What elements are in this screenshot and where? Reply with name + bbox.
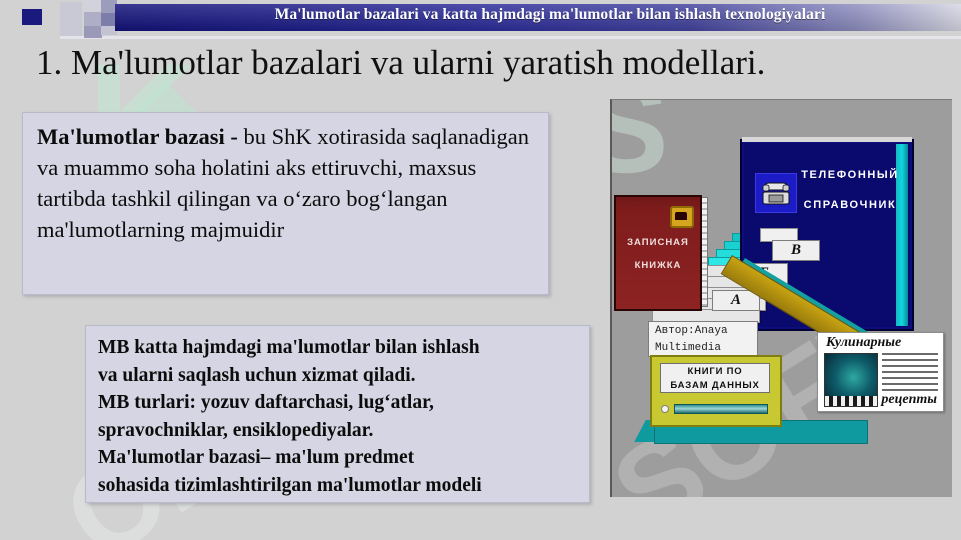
index-tab-v: В [772, 240, 820, 261]
recipe-card-line1: Кулинарные [826, 335, 901, 351]
author-card-line1: Автор:Anaya [655, 323, 757, 340]
recipe-card-text-lines [882, 353, 938, 393]
drawer-handle [674, 404, 768, 414]
drawer-knob-icon [661, 405, 669, 413]
slide-header: Ma'lumotlar bazalari va katta hajmdagi m… [0, 0, 961, 33]
page-title: 1. Ma'lumotlar bazalari va ularni yarati… [36, 43, 926, 83]
details-line-2: va ularni saqlash uchun xizmat qiladi. [98, 362, 581, 390]
notebook-emblem-inner [675, 212, 687, 220]
phone-directory-title-line2: СПРАВОЧНИК [790, 199, 910, 211]
recipe-card-photo-checks [825, 396, 877, 406]
recipe-card-photo [824, 353, 878, 407]
header-square-accent [22, 9, 42, 25]
header-square-light-1 [60, 2, 82, 36]
details-line-6: sohasida tizimlashtirilgan ma'lumotlar m… [98, 472, 581, 500]
notebook-book: ЗАПИСНАЯ КНИЖКА [614, 195, 702, 311]
header-square-light-3 [84, 12, 102, 26]
header-title: Ma'lumotlar bazalari va katta hajmdagi m… [150, 6, 950, 24]
header-underline [60, 36, 961, 39]
drawer-label: КНИГИ ПО БАЗАМ ДАННЫХ [660, 363, 770, 393]
definition-lead: Ma'lumotlar bazasi - [37, 124, 238, 149]
drawer-label-line2: БАЗАМ ДАННЫХ [661, 379, 769, 393]
phone-directory-top-edge [742, 137, 912, 142]
details-textbox: MB katta hajmdagi ma'lumotlar bilan ishl… [85, 325, 590, 503]
details-line-3: MB turlari: yozuv daftarchasi, lug‘atlar… [98, 389, 581, 417]
details-line-1: MB katta hajmdagi ma'lumotlar bilan ishl… [98, 334, 581, 362]
header-square-light-2 [84, 0, 102, 11]
telephone-glyph [760, 179, 792, 207]
drawer-label-line1: КНИГИ ПО [661, 365, 769, 379]
notebook-title-line1: ЗАПИСНАЯ [616, 237, 700, 248]
definition-textbox: Ma'lumotlar bazasi - bu ShK xotirasida s… [22, 112, 549, 295]
details-line-4: spravochniklar, ensiklopediyalar. [98, 417, 581, 445]
notebook-title-line2: КНИЖКА [616, 260, 700, 271]
slide-canvas: K OFT Ma'lumotlar bazalari va katta hajm… [0, 0, 961, 540]
catalog-drawer: КНИГИ ПО БАЗАМ ДАННЫХ [650, 355, 782, 427]
recipe-card: Кулинарные рецепты [817, 332, 944, 412]
header-square-mid-3 [84, 26, 102, 38]
database-illustration: S SOFT ТЕЛЕФОННЫЙ СПРАВОЧНИК [610, 99, 952, 497]
details-line-5: Ma'lumotlar bazasi– ma'lum predmet [98, 444, 581, 472]
illustration-watermark-s: S [610, 99, 669, 202]
phone-directory-title-line1: ТЕЛЕФОННЫЙ [790, 169, 910, 181]
recipe-card-line2: рецепты [881, 392, 937, 408]
notebook-emblem-icon [670, 206, 694, 228]
author-card: Автор:Anaya Multimedia [648, 321, 758, 357]
